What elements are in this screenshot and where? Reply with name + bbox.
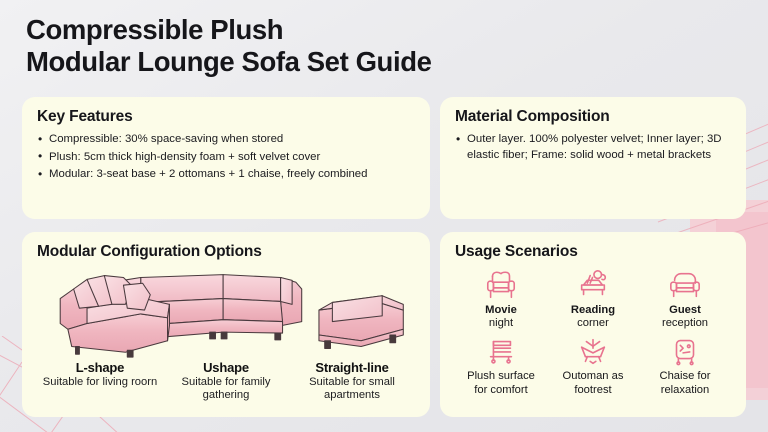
config-option-description: Suitable for living roorn bbox=[39, 376, 161, 389]
card-material-composition: Material Composition Outer layer. 100% p… bbox=[440, 97, 746, 219]
page-title: Compressible Plush Modular Lounge Sofa S… bbox=[26, 14, 666, 79]
page-title-line1: Compressible Plush bbox=[26, 14, 283, 45]
usage-item-label: Guest reception bbox=[639, 304, 731, 330]
usage-item-label: Reading corner bbox=[547, 304, 639, 330]
config-option-name: L-shape bbox=[39, 360, 161, 375]
plush-seat-icon bbox=[455, 332, 547, 370]
usage-item-reading-corner: Reading corner bbox=[547, 266, 639, 330]
key-features-list: Compressible: 30% space-saving when stor… bbox=[37, 131, 415, 183]
list-item: Plush: 5cm thick high-density foam + sof… bbox=[37, 149, 415, 165]
config-option-description: Suitable for small apartments bbox=[291, 376, 413, 403]
usage-item-line2: reception bbox=[662, 317, 708, 329]
page-header: Compressible Plush Modular Lounge Sofa S… bbox=[26, 14, 666, 79]
usage-item-line1: Guest bbox=[669, 304, 701, 316]
usage-item-guest-reception: Guest reception bbox=[639, 266, 731, 330]
sofa-illustration-svg bbox=[37, 266, 415, 358]
usage-item-line1: Plush surface bbox=[467, 370, 535, 382]
usage-item-line2: corner bbox=[577, 317, 609, 329]
config-option-straight-line: Straight-line Suitable for small apartme… bbox=[289, 360, 415, 403]
modular-configuration-heading: Modular Configuration Options bbox=[37, 243, 415, 261]
usage-item-line1: Movie bbox=[485, 304, 517, 316]
usage-item-plush-surface: Plush surface for comfort bbox=[455, 332, 547, 396]
usage-item-line1: Reading bbox=[571, 304, 615, 316]
page-title-line2: Modular Lounge Sofa Set Guide bbox=[26, 46, 432, 77]
usage-item-ottoman-footrest: Outoman as footrest bbox=[547, 332, 639, 396]
usage-item-line2: relaxation bbox=[661, 384, 710, 396]
config-option-l-shape: L-shape Suitable for living roorn bbox=[37, 360, 163, 403]
configuration-options-list: L-shape Suitable for living roorn Ushape… bbox=[37, 360, 415, 403]
card-key-features: Key Features Compressible: 30% space-sav… bbox=[22, 97, 430, 219]
usage-item-line2: for comfort bbox=[474, 384, 527, 396]
config-option-name: Ushape bbox=[165, 360, 287, 375]
usage-scenarios-grid: Movie night Reading bbox=[455, 266, 731, 397]
config-option-name: Straight-line bbox=[291, 360, 413, 375]
usage-item-label: Chaise for relaxation bbox=[639, 370, 731, 396]
armchair-icon bbox=[455, 266, 547, 304]
ottoman-footrest-icon bbox=[547, 332, 639, 370]
usage-scenarios-heading: Usage Scenarios bbox=[455, 243, 731, 261]
material-composition-list: Outer layer. 100% polyester velvet; Inne… bbox=[455, 131, 731, 163]
card-modular-configuration: Modular Configuration Options bbox=[22, 232, 430, 417]
list-item: Compressible: 30% space-saving when stor… bbox=[37, 131, 415, 147]
config-option-ushape: Ushape Suitable for family gathering bbox=[163, 360, 289, 403]
card-grid: Key Features Compressible: 30% space-sav… bbox=[22, 97, 746, 417]
usage-item-line1: Outoman as bbox=[563, 370, 624, 382]
config-option-description: Suitable for family gathering bbox=[165, 376, 287, 403]
list-item: Outer layer. 100% polyester velvet; Inne… bbox=[455, 131, 731, 163]
card-usage-scenarios: Usage Scenarios Movie bbox=[440, 232, 746, 417]
material-composition-heading: Material Composition bbox=[455, 108, 731, 126]
usage-item-label: Movie night bbox=[455, 304, 547, 330]
reading-lamp-ottoman-icon bbox=[547, 266, 639, 304]
usage-item-line2: night bbox=[489, 317, 513, 329]
chaise-lounge-icon bbox=[639, 332, 731, 370]
armchair-wide-icon bbox=[639, 266, 731, 304]
sofa-illustration bbox=[37, 266, 415, 358]
key-features-heading: Key Features bbox=[37, 108, 415, 126]
usage-item-line1: Chaise for bbox=[660, 370, 711, 382]
usage-item-chaise-relaxation: Chaise for relaxation bbox=[639, 332, 731, 396]
usage-item-label: Outoman as footrest bbox=[547, 370, 639, 396]
usage-item-movie-night: Movie night bbox=[455, 266, 547, 330]
usage-item-label: Plush surface for comfort bbox=[455, 370, 547, 396]
list-item: Modular: 3-seat base + 2 ottomans + 1 ch… bbox=[37, 166, 415, 182]
usage-item-line2: footrest bbox=[574, 384, 611, 396]
